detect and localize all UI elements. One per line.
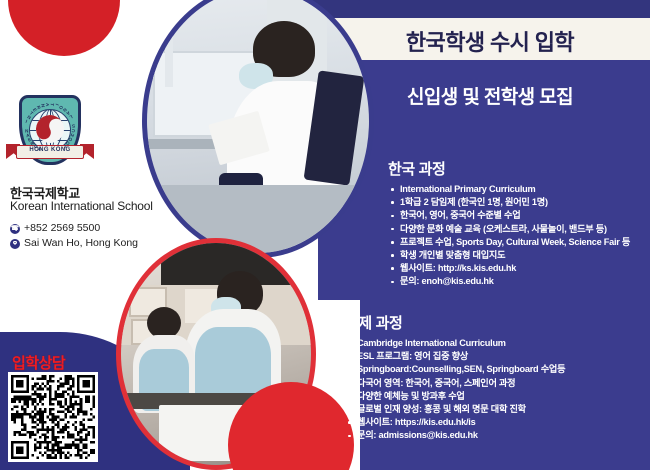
program-international-title: 국제 과정 [345,312,565,333]
contact-block: +852 2569 5500 Sai Wan Ho, Hong Kong [10,221,138,251]
program-list-item: 문의: admissions@kis.edu.hk [345,429,565,442]
program-list-item: 1학급 2 담임제 (한국인 1명, 원어민 1명) [388,196,630,209]
program-international: 국제 과정 Cambridge International Curriculum… [345,312,565,443]
qr-code[interactable] [8,372,98,462]
contact-phone: +852 2569 5500 [24,221,100,236]
decor-red-circle-top-left [8,0,120,56]
program-list-item: 글로벌 인재 양성: 홍콩 및 해외 명문 대학 진학 [345,403,565,416]
contact-phone-row: +852 2569 5500 [10,221,138,236]
contact-address-row: Sai Wan Ho, Hong Kong [10,236,138,251]
program-list-item: Cambridge International Curriculum [345,337,565,350]
location-pin-icon [10,239,20,249]
program-list-item: 한국어, 영어, 중국어 수준별 수업 [388,209,630,222]
qr-label: 입학상담 [12,352,65,373]
page-subtitle: 신입생 및 전학생 모집 [330,82,650,109]
program-list-item: Springboard:Counselling,SEN, Springboard… [345,363,565,376]
contact-address: Sai Wan Ho, Hong Kong [24,236,138,251]
program-list-item: 웹사이트: https://kis.edu.hk/is [345,416,565,429]
program-list-item: 다양한 문화 예술 교육 (오케스트라, 사물놀이, 밴드부 등) [388,223,630,236]
page-title: 한국학생 수시 입학 [330,25,650,57]
program-list-item: 문의: enoh@kis.edu.hk [388,275,630,288]
program-list-item: 프로젝트 수업, Sports Day, Cultural Week, Scie… [388,236,630,249]
poster-canvas: HONG KONG KOREAN INTERNATIONAL SCHOOL 한국… [0,0,650,470]
phone-icon [10,224,20,234]
program-list-item: 웹사이트: http://ks.kis.edu.hk [388,262,630,275]
program-korean: 한국 과정 International Primary Curriculum1학… [388,158,630,289]
program-korean-list: International Primary Curriculum1학급 2 담임… [388,183,630,289]
program-list-item: 다양한 예체능 및 방과후 수업 [345,390,565,403]
program-list-item: ESL 프로그램: 영어 집중 향상 [345,350,565,363]
qr-canvas [11,375,95,459]
logo-arc-text: KOREAN INTERNATIONAL SCHOOL [23,101,77,155]
school-name-english: Korean International School [10,199,153,213]
program-list-item: International Primary Curriculum [388,183,630,196]
program-list-item: 학생 개인별 맞춤형 대입지도 [388,249,630,262]
school-logo: HONG KONG KOREAN INTERNATIONAL SCHOOL [10,93,90,175]
program-international-list: Cambridge International CurriculumESL 프로… [345,337,565,443]
program-korean-title: 한국 과정 [388,158,630,179]
program-list-item: 다국어 영역: 한국어, 중국어, 스페인어 과정 [345,377,565,390]
